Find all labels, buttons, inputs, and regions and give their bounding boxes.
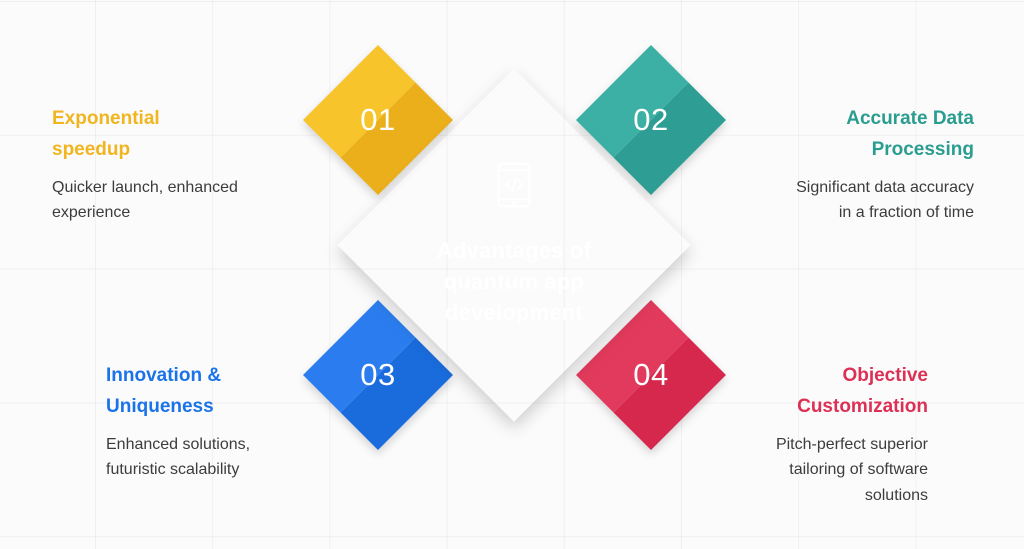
item-body-04-line-2: tailoring of software (789, 461, 928, 478)
item-body-03-line-2: futuristic scalability (106, 461, 239, 478)
item-label-04: Objective Customization Pitch-perfect su… (688, 361, 928, 509)
item-heading-02-line-1: Accurate Data (846, 108, 974, 129)
center-title-line-1: Advantages of (437, 238, 591, 263)
item-label-02: Accurate Data Processing Significant dat… (706, 104, 974, 226)
mobile-code-icon (497, 162, 531, 213)
center-title-line-3: development (445, 300, 583, 325)
item-body-02: Significant data accuracy in a fraction … (706, 175, 974, 227)
item-heading-01: Exponential speedup (52, 104, 320, 166)
center-title-line-2: quantum app (444, 269, 584, 294)
item-heading-04-line-2: Customization (797, 396, 928, 417)
item-body-04-line-1: Pitch-perfect superior (776, 436, 928, 453)
item-heading-03-line-2: Uniqueness (106, 396, 214, 417)
item-heading-03-line-1: Innovation & (106, 365, 221, 386)
item-heading-02-line-2: Processing (872, 139, 974, 160)
item-heading-04-line-1: Objective (842, 365, 928, 386)
item-heading-01-line-2: speedup (52, 139, 130, 160)
infographic-canvas: Exponential speedup Quicker launch, enha… (0, 0, 1024, 549)
item-label-01: Exponential speedup Quicker launch, enha… (52, 104, 320, 226)
item-label-03: Innovation & Uniqueness Enhanced solutio… (106, 361, 336, 483)
center-title: Advantages of quantum app development (389, 235, 639, 329)
item-heading-01-line-1: Exponential (52, 108, 160, 129)
item-heading-02: Accurate Data Processing (706, 104, 974, 166)
item-body-01-line-2: experience (52, 204, 130, 221)
item-heading-03: Innovation & Uniqueness (106, 361, 336, 423)
item-body-02-line-1: Significant data accuracy (796, 179, 974, 196)
center-content: Advantages of quantum app development (389, 120, 639, 370)
item-body-03: Enhanced solutions, futuristic scalabili… (106, 432, 336, 484)
item-body-01-line-1: Quicker launch, enhanced (52, 179, 238, 196)
item-body-01: Quicker launch, enhanced experience (52, 175, 320, 227)
item-body-04-line-3: solutions (865, 487, 928, 504)
item-heading-04: Objective Customization (688, 361, 928, 423)
item-body-04: Pitch-perfect superior tailoring of soft… (688, 432, 928, 510)
item-body-03-line-1: Enhanced solutions, (106, 436, 250, 453)
center-diamond[interactable]: Advantages of quantum app development (337, 68, 691, 422)
item-body-02-line-2: in a fraction of time (839, 204, 974, 221)
